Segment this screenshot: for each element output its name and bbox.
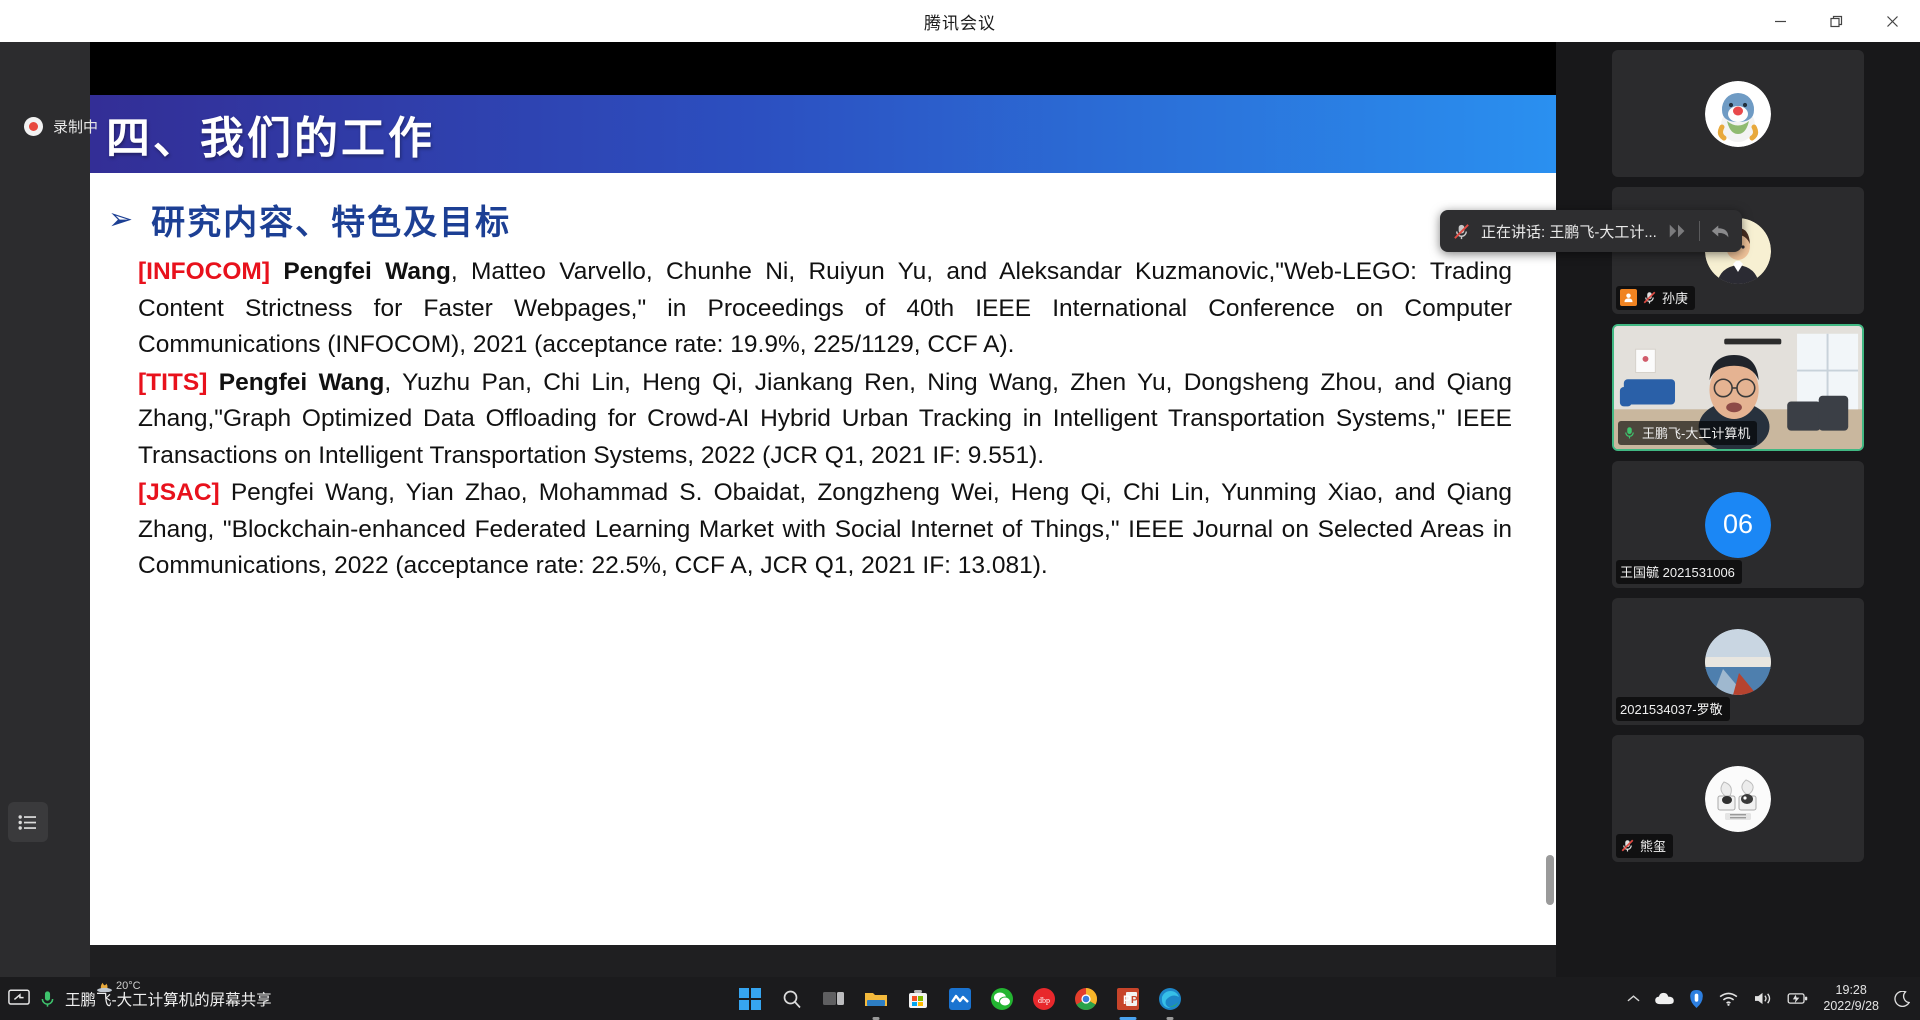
participant-label: 孙庚 (1616, 286, 1695, 310)
edge-icon[interactable] (1155, 984, 1185, 1014)
chevrons-icon (1667, 222, 1689, 240)
initials-avatar: 06 (1705, 492, 1771, 558)
highlighted-author: Pengfei Wang (219, 369, 385, 396)
avatar (1705, 629, 1771, 695)
active-indicator (1120, 1017, 1137, 1020)
avatar (1705, 81, 1771, 147)
recording-label: 录制中 (53, 116, 98, 137)
participant-tile[interactable]: 熊玺 (1612, 735, 1864, 862)
mic-on-icon (39, 989, 56, 1009)
weather-temp: 20°C (116, 980, 141, 992)
slide-header-bar: 四、我们的工作 (90, 95, 1556, 173)
presentation-slide: 四、我们的工作 ➢ 研究内容、特色及目标 [INFOCOM] Pengfei W… (90, 95, 1556, 945)
window-controls (1752, 0, 1920, 42)
chevron-up-icon[interactable] (1627, 994, 1640, 1004)
running-indicator (873, 1017, 880, 1020)
screen-share-tray-item[interactable]: 王鹏飞-大工计算机的屏幕共享 20°C (8, 977, 272, 1020)
avatar (1705, 766, 1771, 832)
clock-time: 19:28 (1823, 983, 1879, 999)
mic-muted-icon (1452, 222, 1471, 241)
list-icon (18, 814, 38, 831)
entry-text: Pengfei Wang, Yian Zhao, Mohammad S. Oba… (138, 479, 1512, 579)
slide-scrollbar[interactable] (1546, 855, 1554, 905)
photo-sky-avatar-icon (1705, 629, 1771, 695)
mic-muted-icon (1620, 838, 1635, 853)
banner-divider (1699, 221, 1700, 241)
windows-taskbar: 王鹏飞-大工计算机的屏幕共享 20°C (0, 977, 1920, 1020)
participant-tile[interactable] (1612, 50, 1864, 177)
wps-office-icon[interactable] (945, 984, 975, 1014)
participant-label: 2021534037-罗敬 (1616, 697, 1730, 721)
mic-active-icon (1622, 425, 1637, 440)
moon-icon[interactable] (1894, 991, 1910, 1007)
system-tray: 19:28 2022/9/28 (1627, 977, 1910, 1020)
minimize-button[interactable] (1752, 0, 1808, 42)
speaking-text: 正在讲话: 王鹏飞-大工计... (1481, 221, 1657, 242)
svg-text:P: P (1131, 995, 1138, 1006)
participant-tile[interactable]: 06 王国毓 2021531006 (1612, 461, 1864, 588)
participant-label: 熊玺 (1616, 834, 1673, 858)
participant-label: 王国毓 2021531006 (1616, 560, 1742, 584)
venue-tag: [TITS] (138, 369, 207, 396)
taskbar-apps: dbp PP (735, 977, 1185, 1020)
screen-share-icon (8, 989, 30, 1008)
chrome-icon[interactable] (1071, 984, 1101, 1014)
weather-icon (96, 979, 113, 992)
participant-name: 王国毓 2021531006 (1620, 562, 1735, 581)
publication-entry: [TITS] Pengfei Wang, Yuzhu Pan, Chi Lin,… (138, 365, 1512, 475)
tencent-meeting-window: 腾讯会议 录制中 (0, 0, 1920, 1020)
volume-icon[interactable] (1753, 991, 1772, 1006)
tencent-meeting-tray-icon[interactable] (1689, 990, 1704, 1008)
battery-icon[interactable] (1787, 992, 1808, 1005)
speaking-banner[interactable]: 正在讲话: 王鹏飞-大工计... (1440, 210, 1742, 252)
wechat-icon[interactable] (987, 984, 1017, 1014)
avatar: 06 (1705, 492, 1771, 558)
slide-heading: 四、我们的工作 (106, 102, 435, 166)
window-title: 腾讯会议 (924, 9, 996, 34)
recording-indicator: 录制中 (24, 116, 98, 137)
venue-tag: [INFOCOM] (138, 258, 270, 285)
host-badge-icon (1620, 289, 1637, 306)
recording-dot-icon (24, 117, 43, 136)
wifi-icon[interactable] (1719, 992, 1738, 1006)
clock-date: 2022/9/28 (1823, 999, 1879, 1015)
participant-tile-active-speaker[interactable]: 王鹏飞-大工计算机 (1612, 324, 1864, 451)
back-arrow-icon (1710, 222, 1732, 240)
dingtalk-icon[interactable]: dbp (1029, 984, 1059, 1014)
task-view-icon[interactable] (819, 984, 849, 1014)
cartoon-penguin-avatar-icon (1705, 81, 1771, 147)
participants-list-button[interactable] (8, 802, 48, 842)
publication-entry: [JSAC] Pengfei Wang, Yian Zhao, Mohammad… (138, 475, 1512, 585)
file-explorer-icon[interactable] (861, 984, 891, 1014)
shared-screen-region[interactable]: 四、我们的工作 ➢ 研究内容、特色及目标 [INFOCOM] Pengfei W… (90, 42, 1556, 945)
participant-name: 熊玺 (1640, 836, 1666, 855)
participant-rail[interactable]: 孙庚 (1556, 42, 1920, 977)
cartoon-sheep-avatar-icon (1705, 766, 1771, 832)
venue-tag: [JSAC] (138, 479, 220, 506)
onedrive-icon[interactable] (1655, 992, 1674, 1005)
participant-name: 2021534037-罗敬 (1620, 699, 1723, 718)
participant-name: 王鹏飞-大工计算机 (1642, 423, 1750, 442)
weather-widget[interactable]: 20°C (96, 979, 141, 992)
mic-muted-icon (1642, 290, 1657, 305)
running-indicator (1167, 1017, 1174, 1020)
meeting-body: 录制中 四、我们的工作 ➢ 研究内容、特色及目标 (0, 42, 1920, 977)
participant-tile[interactable]: 2021534037-罗敬 (1612, 598, 1864, 725)
publication-entry: [INFOCOM] Pengfei Wang, Matteo Varvello,… (138, 254, 1512, 364)
participant-label: 王鹏飞-大工计算机 (1618, 421, 1757, 445)
close-button[interactable] (1864, 0, 1920, 42)
microsoft-store-icon[interactable] (903, 984, 933, 1014)
highlighted-author: Pengfei Wang (283, 258, 451, 285)
window-titlebar: 腾讯会议 (0, 0, 1920, 42)
svg-text:P: P (1123, 993, 1131, 1007)
start-button[interactable] (735, 984, 765, 1014)
bullet-arrow-icon: ➢ (108, 205, 133, 235)
clock[interactable]: 19:28 2022/9/28 (1823, 983, 1879, 1014)
svg-text:dbp: dbp (1038, 996, 1050, 1005)
search-icon[interactable] (777, 984, 807, 1014)
restore-button[interactable] (1808, 0, 1864, 42)
slide-body: [INFOCOM] Pengfei Wang, Matteo Varvello,… (138, 254, 1512, 585)
participant-name: 孙庚 (1662, 288, 1688, 307)
powerpoint-icon[interactable]: PP (1113, 984, 1143, 1014)
slide-subheading: 研究内容、特色及目标 (151, 195, 511, 244)
slide-subheading-row: ➢ 研究内容、特色及目标 (108, 195, 1556, 244)
